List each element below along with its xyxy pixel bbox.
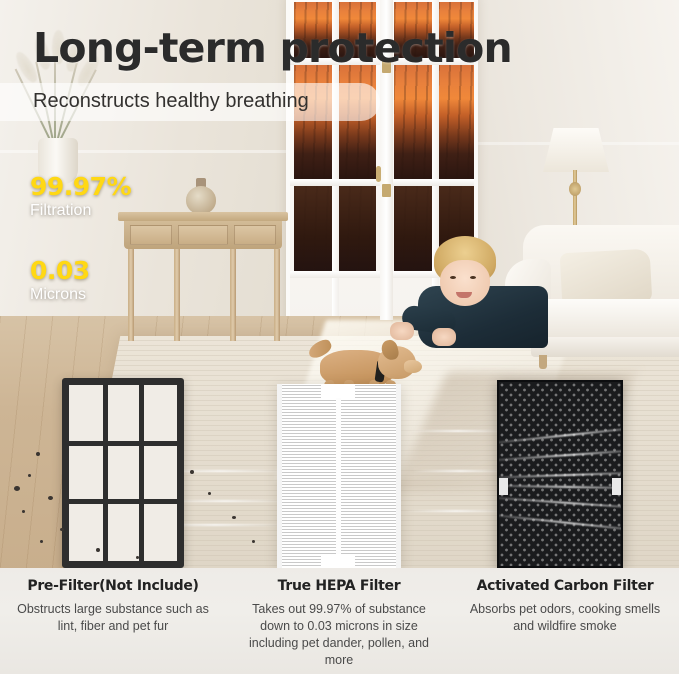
lamp-knob: [569, 182, 581, 196]
hepa-description: Takes out 99.97% of substance down to 0.…: [226, 601, 452, 669]
carbon-description: Absorbs pet odors, cooking smells and wi…: [452, 601, 678, 635]
stat-filtration: 99.97% Filtration: [30, 172, 131, 220]
filter-column-hepa: True HEPA Filter Takes out 99.97% of sub…: [226, 578, 452, 669]
stat-filtration-label: Filtration: [30, 202, 131, 220]
filter-column-prefilter: Pre-Filter(Not Include) Obstructs large …: [0, 578, 226, 635]
page-subtitle: Reconstructs healthy breathing: [33, 90, 309, 113]
prefilter-description: Obstructs large substance such as lint, …: [0, 601, 226, 635]
carbon-title: Activated Carbon Filter: [452, 578, 678, 594]
carbon-filter-image: [497, 380, 623, 568]
hepa-title: True HEPA Filter: [226, 578, 452, 594]
door-knob: [376, 166, 381, 182]
stat-filtration-value: 99.97%: [30, 172, 131, 201]
console-table: [118, 212, 288, 342]
child-figure: [398, 236, 548, 348]
pre-filter-image: [62, 378, 184, 568]
lamp-shade: [543, 128, 609, 172]
hepa-filter-image: [277, 384, 401, 568]
page-title: Long-term protection: [33, 24, 512, 72]
prefilter-title: Pre-Filter(Not Include): [0, 578, 226, 594]
stat-microns-value: 0.03: [30, 256, 90, 285]
stat-microns: 0.03 Microns: [30, 256, 90, 304]
filter-column-carbon: Activated Carbon Filter Absorbs pet odor…: [452, 578, 678, 635]
product-feature-image: Long-term protection Reconstructs health…: [0, 0, 679, 674]
table-vase: [186, 186, 216, 214]
stat-microns-label: Microns: [30, 286, 90, 304]
